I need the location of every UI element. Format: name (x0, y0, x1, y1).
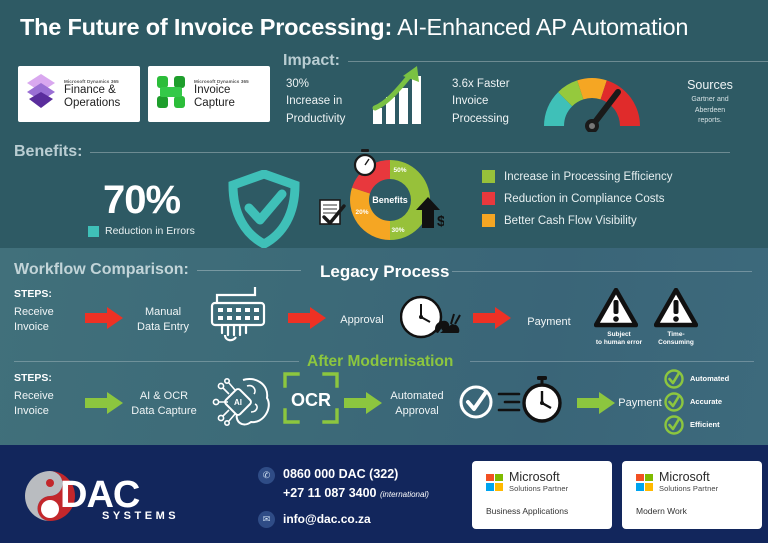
workflow-heading-label: Workflow Comparison: (14, 261, 189, 279)
legacy-title-rule (452, 271, 752, 272)
manual-keyboard-typing-icon (203, 285, 273, 348)
modern-step-ai-ocr-capture: AI & OCR Data Capture (118, 389, 210, 419)
svg-text:$: $ (437, 213, 444, 230)
impact-heading-label: Impact: (283, 52, 340, 70)
legacy-step-payment: Payment (515, 315, 583, 330)
contact-phone-international[interactable]: +27 11 087 3400 (international) (283, 486, 429, 500)
microsoft-partner-badge-modern-work: Microsoft Solutions Partner Modern Work (622, 461, 762, 529)
dynamics-invoice-capture-icon (154, 73, 188, 116)
red-arrow-icon (288, 307, 328, 334)
modern-benefit-automated: Automated (690, 374, 729, 383)
modern-benefit-accurate: Accurate (690, 397, 722, 406)
green-check-circle-icon (664, 369, 684, 394)
badge-tier: Solutions Partner (659, 484, 718, 493)
legend-item: Better Cash Flow Visibility (482, 214, 673, 227)
money-growth-arrow-icon: $ (414, 196, 444, 235)
badge-brand: Microsoft (509, 471, 568, 484)
email-icon: ✉ (258, 511, 275, 528)
product-card-invoice-capture[interactable]: Microsoft Dynamics 365 Invoice Capture (148, 66, 270, 122)
impact-stat-speed: 3.6x Faster Invoice Processing (452, 76, 510, 128)
benefits-heading-label: Benefits: (14, 143, 82, 161)
modern-process-title: After Modernisation (307, 353, 453, 371)
contact-phone-international-number: +27 11 087 3400 (283, 486, 377, 500)
badge-header: Microsoft Solutions Partner (636, 471, 762, 493)
phone-icon: ✆ (258, 467, 275, 484)
product-name-line2: Operations (64, 97, 120, 110)
legacy-process-title: Legacy Process (320, 262, 449, 282)
workflow-section-heading: Workflow Comparison: (14, 261, 301, 279)
microsoft-logo-icon (636, 474, 653, 491)
sources-title: Sources (660, 78, 760, 92)
infographic-root: The Future of Invoice Processing: AI-Enh… (0, 0, 768, 543)
reduction-percentage: 70% (103, 178, 180, 223)
sources-block: Sources Gartner and Aberdeen reports. (660, 78, 760, 127)
reduction-legend: Reduction in Errors (88, 225, 195, 237)
badge-category: Modern Work (636, 506, 762, 516)
warning-triangle-icon (654, 288, 698, 333)
modern-step-automated-approval: Automated Approval (377, 389, 457, 419)
legacy-step-approval: Approval (330, 313, 394, 328)
heading-rule (348, 61, 768, 62)
red-arrow-icon (473, 307, 513, 334)
stopwatch-icon (350, 148, 380, 183)
growth-bar-chart-icon (371, 64, 431, 131)
product-name-line1: Invoice (194, 84, 249, 97)
legend-swatch-cashflow (482, 214, 495, 227)
page-title: The Future of Invoice Processing: AI-Enh… (20, 14, 688, 41)
page-title-light: AI-Enhanced AP Automation (392, 14, 688, 40)
legend-label-compliance: Reduction in Compliance Costs (504, 193, 664, 205)
green-check-circle-icon (664, 415, 684, 440)
contact-email[interactable]: info@dac.co.za (283, 512, 371, 526)
legend-label-cashflow: Better Cash Flow Visibility (504, 215, 637, 227)
green-check-circle-icon (664, 392, 684, 417)
contact-phone-international-note: (international) (380, 490, 429, 499)
badge-text: Microsoft Solutions Partner (509, 471, 568, 493)
badge-header: Microsoft Solutions Partner (486, 471, 612, 493)
product-card-text: Microsoft Dynamics 365 Invoice Capture (194, 79, 249, 110)
slow-clock-snail-icon (400, 293, 462, 346)
speed-gauge-icon (537, 66, 647, 137)
product-eyebrow: Microsoft Dynamics 365 (64, 79, 120, 84)
warning-triangle-icon (594, 288, 638, 333)
microsoft-partner-badge-business-applications: Microsoft Solutions Partner Business App… (472, 461, 612, 529)
legacy-step-manual-data-entry: Manual Data Entry (118, 305, 208, 335)
product-eyebrow: Microsoft Dynamics 365 (194, 79, 249, 84)
legend-swatch-compliance (482, 192, 495, 205)
microsoft-logo-icon (486, 474, 503, 491)
dac-logo-subtext: SYSTEMS (102, 510, 179, 522)
legend-item: Reduction in Compliance Costs (482, 192, 673, 205)
legacy-step-receive-invoice: Receive Invoice (14, 305, 54, 335)
ocr-scan-icon: OCR (283, 372, 339, 429)
benefits-legend: Increase in Processing Efficiency Reduct… (482, 170, 673, 236)
impact-stat-productivity: 30% Increase in Productivity (286, 76, 345, 128)
heading-rule (197, 270, 301, 271)
badge-text: Microsoft Solutions Partner (659, 471, 718, 493)
modern-step-receive-invoice: Receive Invoice (14, 389, 54, 419)
svg-text:AI: AI (234, 398, 242, 407)
svg-text:20%: 20% (355, 209, 368, 216)
modern-step-payment: Payment (610, 396, 670, 411)
legend-label-efficiency: Increase in Processing Efficiency (504, 171, 673, 183)
product-name-line2: Capture (194, 97, 249, 110)
shield-check-icon (225, 170, 303, 253)
legend-swatch-efficiency (482, 170, 495, 183)
modern-steps-label: STEPS: (14, 372, 52, 384)
svg-text:OCR: OCR (291, 390, 331, 410)
modern-benefit-efficient: Efficient (690, 420, 720, 429)
document-check-icon (318, 198, 348, 233)
dynamics-finance-operations-icon (24, 72, 58, 117)
svg-text:Benefits: Benefits (372, 195, 408, 205)
legend-swatch (88, 226, 99, 237)
fast-stopwatch-icon (497, 375, 563, 432)
legacy-steps-label: STEPS: (14, 288, 52, 300)
impact-section-heading: Impact: (283, 52, 768, 70)
page-title-bold: The Future of Invoice Processing: (20, 14, 392, 40)
product-card-text: Microsoft Dynamics 365 Finance & Operati… (64, 79, 120, 110)
badge-category: Business Applications (486, 506, 612, 516)
badge-tier: Solutions Partner (509, 484, 568, 493)
legend-item: Increase in Processing Efficiency (482, 170, 673, 183)
contact-phone-primary[interactable]: 0860 000 DAC (322) (283, 467, 398, 481)
product-card-finance-operations[interactable]: Microsoft Dynamics 365 Finance & Operati… (18, 66, 140, 122)
circle-check-icon (458, 384, 494, 425)
ai-brain-circuit-icon: AI (207, 370, 277, 437)
product-name-line1: Finance & (64, 84, 120, 97)
modern-title-rule-right (470, 361, 754, 362)
badge-brand: Microsoft (659, 471, 718, 484)
svg-text:30%: 30% (391, 227, 404, 234)
sources-subtext: Gartner and Aberdeen reports. (660, 95, 760, 127)
svg-text:50%: 50% (393, 167, 406, 174)
legacy-warning-time-consuming: Time- Consuming (643, 331, 709, 348)
heading-rule (90, 152, 730, 153)
modern-title-rule-left (14, 361, 299, 362)
reduction-legend-label: Reduction in Errors (105, 225, 195, 237)
